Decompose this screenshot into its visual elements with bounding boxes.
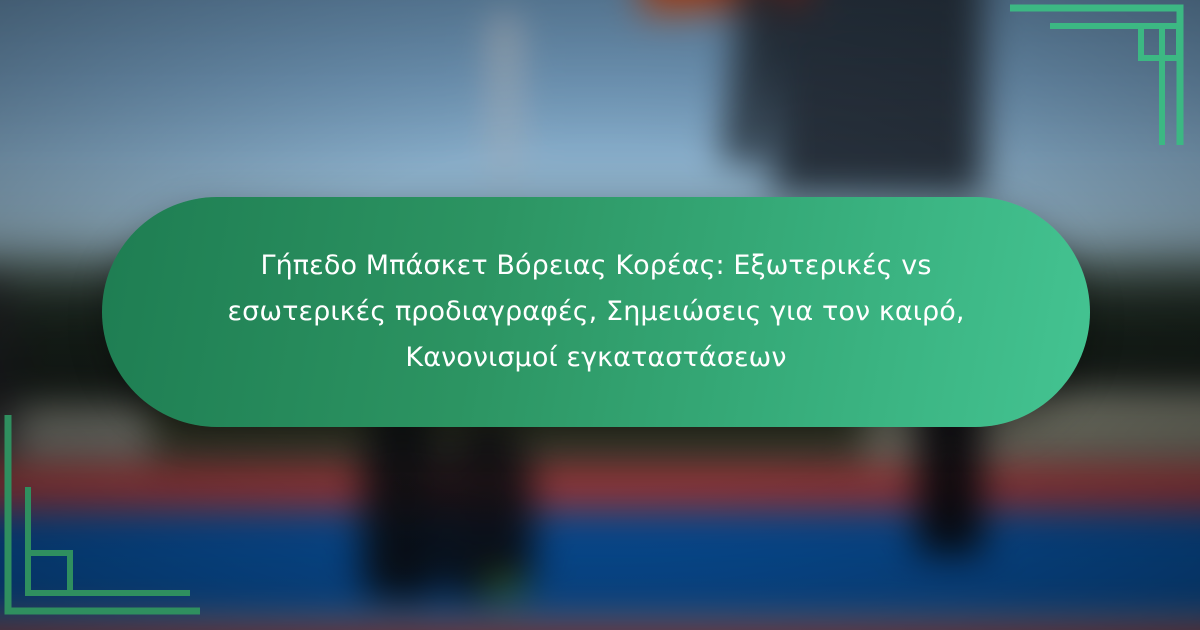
page-title: Γήπεδο Μπάσκετ Βόρειας Κορέας: Εξωτερικέ… xyxy=(226,243,966,381)
headline-card: Γήπεδο Μπάσκετ Βόρειας Κορέας: Εξωτερικέ… xyxy=(102,197,1090,427)
court-blue-surface xyxy=(0,510,1200,630)
light-pole xyxy=(494,15,515,180)
player-silhouette-a xyxy=(362,405,441,600)
social-share-card: Γήπεδο Μπάσκετ Βόρειας Κορέας: Εξωτερικέ… xyxy=(0,0,1200,630)
court-sideline xyxy=(0,619,1200,630)
player-silhouette-b xyxy=(442,420,534,600)
floodlight-tower xyxy=(772,0,983,195)
